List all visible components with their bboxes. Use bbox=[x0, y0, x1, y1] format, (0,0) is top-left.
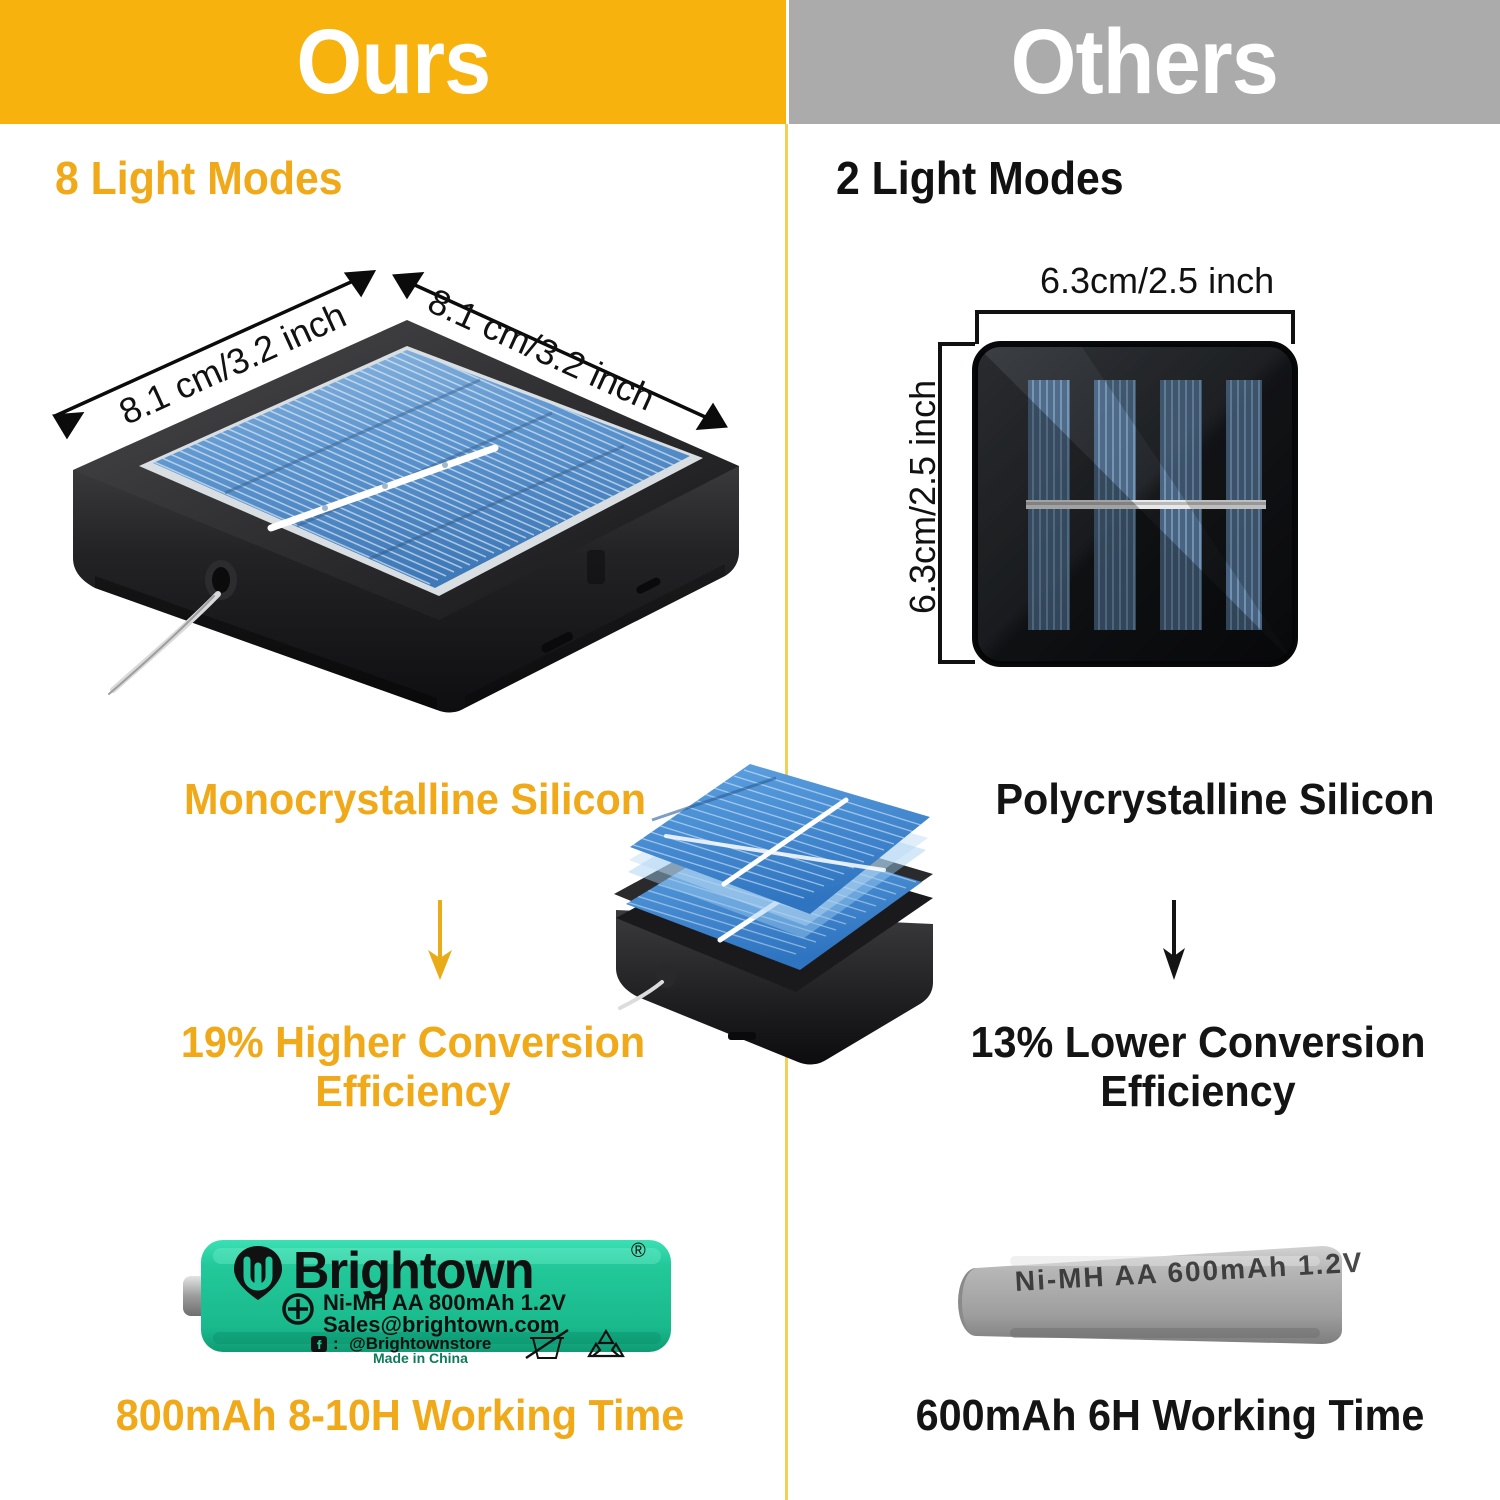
brightown-logo-icon bbox=[231, 1244, 285, 1307]
right-down-arrow-icon bbox=[1152, 898, 1196, 987]
right-efficiency-line2: Efficiency bbox=[935, 1067, 1461, 1116]
left-battery-caption: 800mAh 8-10H Working Time bbox=[80, 1392, 719, 1440]
right-solar-panel-image: 6.3cm/2.5 inch 6.3cm/2.5 inch bbox=[880, 262, 1340, 702]
right-panel-dimension-side: 6.3cm/2.5 inch bbox=[902, 380, 944, 614]
right-light-modes-label: 2 Light Modes bbox=[836, 155, 1124, 201]
header-band-others: Others bbox=[789, 0, 1500, 124]
left-down-arrow-icon bbox=[418, 898, 462, 987]
right-panel-dimension-top: 6.3cm/2.5 inch bbox=[1040, 260, 1274, 302]
header-band-ours: Ours bbox=[0, 0, 786, 124]
recycle-icon bbox=[583, 1328, 629, 1367]
battery-trademark-symbol: ® bbox=[631, 1240, 646, 1263]
facebook-icon bbox=[311, 1336, 327, 1357]
left-efficiency-line1: 19% Higher Conversion bbox=[145, 1018, 681, 1067]
right-efficiency-text: 13% Lower Conversion Efficiency bbox=[935, 1018, 1461, 1117]
crossed-out-bin-icon bbox=[523, 1328, 571, 1367]
right-battery-image: Ni-MH AA 600mAh 1.2V bbox=[950, 1238, 1350, 1358]
battery-plus-icon bbox=[281, 1292, 315, 1331]
header-title-others: Others bbox=[1011, 16, 1278, 108]
left-efficiency-text: 19% Higher Conversion Efficiency bbox=[145, 1018, 681, 1117]
header-title-ours: Ours bbox=[296, 16, 490, 108]
right-battery-caption: 600mAh 6H Working Time bbox=[879, 1392, 1462, 1440]
battery-origin-text: Made in China bbox=[373, 1350, 468, 1366]
left-efficiency-line2: Efficiency bbox=[145, 1067, 681, 1116]
left-battery-image: Brightown ® Ni-MH AA 800mAh 1.2V Sales@b… bbox=[183, 1232, 675, 1364]
right-efficiency-line1: 13% Lower Conversion bbox=[935, 1018, 1461, 1067]
left-light-modes-label: 8 Light Modes bbox=[55, 155, 343, 201]
left-solar-panel-image: 8.1 cm/3.2 inch 8.1 cm/3.2 inch bbox=[35, 258, 755, 728]
right-silicon-label: Polycrystalline Silicon bbox=[952, 775, 1478, 824]
